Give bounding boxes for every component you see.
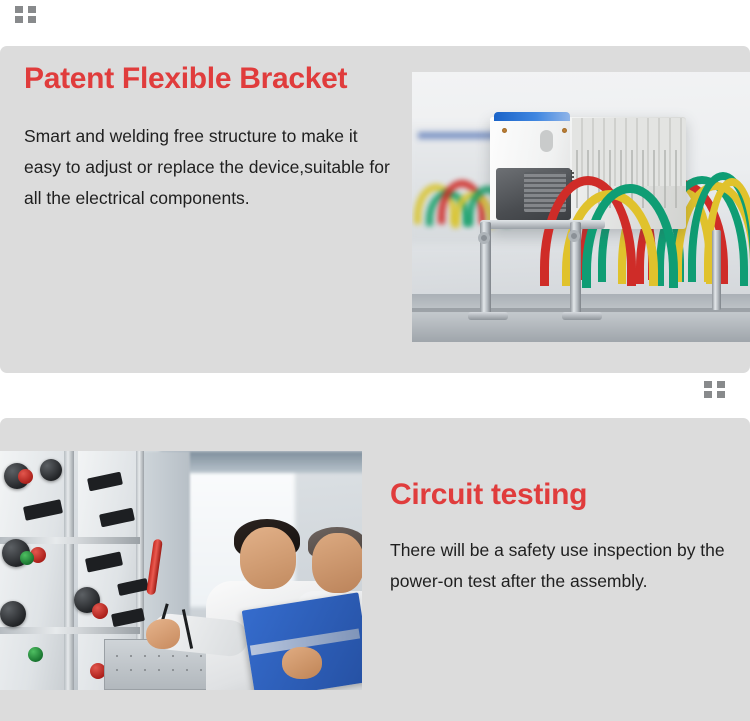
grid-square xyxy=(15,16,23,23)
panel-button-red xyxy=(18,469,33,484)
section-2-heading: Circuit testing xyxy=(390,478,738,511)
bracket-ring-right xyxy=(568,230,580,242)
section-2-text-column: Circuit testing There will be a safety u… xyxy=(390,478,738,597)
section-1-heading: Patent Flexible Bracket xyxy=(24,62,394,95)
grid-icon-top-container[interactable] xyxy=(15,6,36,23)
bracket-cross-bar xyxy=(480,220,605,229)
technician-2-hand xyxy=(282,647,322,679)
breaker-screw xyxy=(562,128,567,133)
bracket-foot-left xyxy=(468,312,508,320)
grid-2x2-icon[interactable] xyxy=(704,381,725,398)
grid-square xyxy=(717,381,725,388)
technician-2-head xyxy=(312,533,362,593)
grid-square xyxy=(28,16,36,23)
panel-button-red xyxy=(92,603,108,619)
cabinet-shelf xyxy=(0,627,140,634)
grid-square xyxy=(15,6,23,13)
panel-button-green xyxy=(20,551,34,565)
panel-knob xyxy=(40,459,62,481)
panel-knob xyxy=(0,601,26,627)
breaker-blue-cap xyxy=(494,112,570,121)
grid-square xyxy=(704,381,712,388)
section-2-body: There will be a safety use inspection by… xyxy=(390,535,738,597)
section-1-text-column: Patent Flexible Bracket Smart and weldin… xyxy=(24,62,394,214)
section-1-image xyxy=(412,72,750,342)
grid-icon-middle-container[interactable] xyxy=(704,381,725,398)
technician-1-head xyxy=(240,527,296,589)
cabinet-frame-rail xyxy=(64,451,74,690)
breaker-screw xyxy=(502,128,507,133)
grid-square xyxy=(704,391,712,398)
grid-square xyxy=(717,391,725,398)
panel-button-green xyxy=(28,647,43,662)
section-2-image xyxy=(0,451,362,690)
breaker-label-oval xyxy=(540,130,553,152)
product-feature-page: Patent Flexible Bracket Smart and weldin… xyxy=(0,0,750,721)
bracket-foot-right xyxy=(562,312,602,320)
grid-square xyxy=(28,6,36,13)
background-ceiling-beam xyxy=(160,451,362,473)
grid-2x2-icon[interactable] xyxy=(15,6,36,23)
bracket-ring-left xyxy=(478,232,490,244)
section-1-body: Smart and welding free structure to make… xyxy=(24,121,394,214)
bracket-leg-far-right xyxy=(712,230,721,310)
technician-1-hand xyxy=(146,619,180,649)
